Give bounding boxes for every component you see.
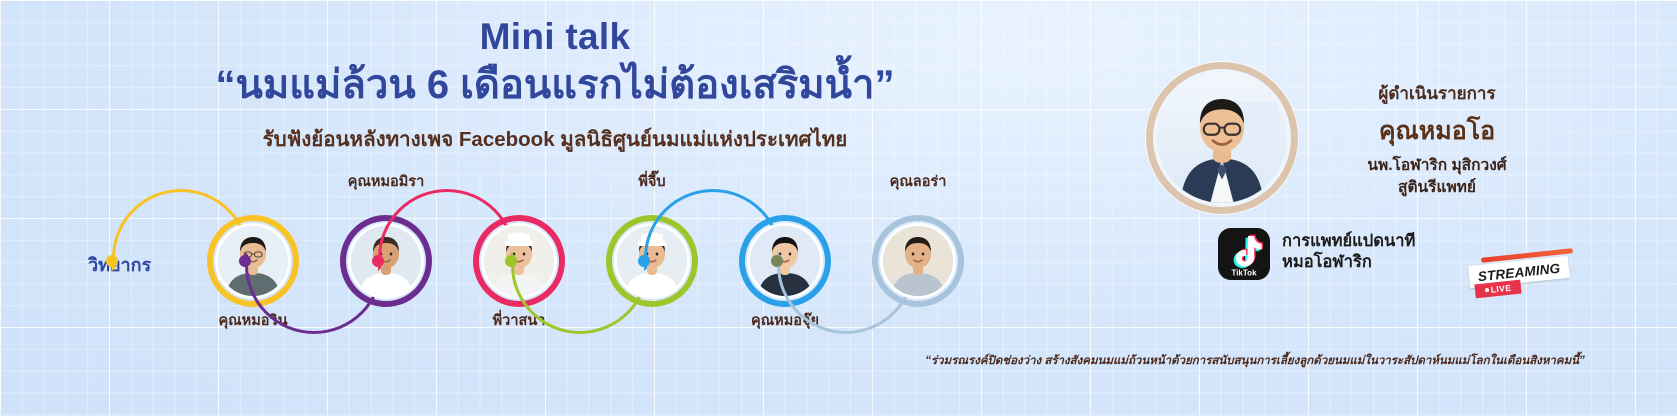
speaker-item[interactable]: คุณลอร่า (843, 186, 993, 336)
speaker-connector-dot (372, 255, 384, 267)
page-subtitle: รับฟังย้อนหลังทางเพจ Facebook มูลนิธิศูน… (0, 123, 1110, 156)
live-dot-icon (1485, 288, 1489, 292)
tiktok-icon[interactable]: TikTok (1218, 228, 1270, 280)
speaker-connector-dot (771, 255, 783, 267)
program-line-2: หมอโอฬาริก (1282, 252, 1472, 273)
live-label: LIVE (1490, 283, 1511, 295)
speakers-row: คุณหมอวิน คุณหมอมิรา พี่วาสนา พี่จี๊บ (0, 186, 1040, 336)
speaker-connector-dot (239, 255, 251, 267)
page-title: “นมแม่ล้วน 6 เดือนแรกไม่ต้องเสริมน้ำ” (0, 61, 1110, 110)
tiktok-wordmark: TikTok (1231, 269, 1257, 278)
program-name: การแพทย์แปดนาที หมอโอฬาริก (1282, 231, 1472, 273)
streaming-badge: STREAMING LIVE (1467, 252, 1573, 296)
host-role: ผู้ดำเนินรายการ (1308, 80, 1566, 107)
mini-talk-kicker: Mini talk (0, 18, 1110, 57)
host-credential-line2: สูตินรีแพทย์ (1308, 178, 1566, 199)
speaker-portrait-illustration (883, 226, 953, 296)
host-text-block: ผู้ดำเนินรายการ คุณหมอโอ นพ.โอฬาริก มุสิ… (1308, 80, 1566, 199)
speaker-connector-dot (505, 255, 517, 267)
speaker-avatar (880, 223, 956, 299)
host-credential-line1: นพ.โอฬาริก มุสิกวงศ์ (1308, 156, 1566, 177)
host-avatar-ring (1146, 62, 1298, 214)
speaker-connector-dot (106, 255, 118, 267)
speaker-name: คุณลอร่า (825, 170, 1011, 193)
speaker-connector-dot (638, 255, 650, 267)
host-portrait-illustration (1157, 73, 1287, 203)
program-line-1: การแพทย์แปดนาที (1282, 231, 1472, 252)
host-name: คุณหมอโอ (1308, 111, 1566, 151)
heading-block: Mini talk “นมแม่ล้วน 6 เดือนแรกไม่ต้องเส… (0, 18, 1110, 156)
footer-note: “ร่วมรณรงค์ปิดช่องว่าง สร้างสังคมนมแม่ถ้… (840, 352, 1670, 370)
avatar (1157, 73, 1287, 203)
